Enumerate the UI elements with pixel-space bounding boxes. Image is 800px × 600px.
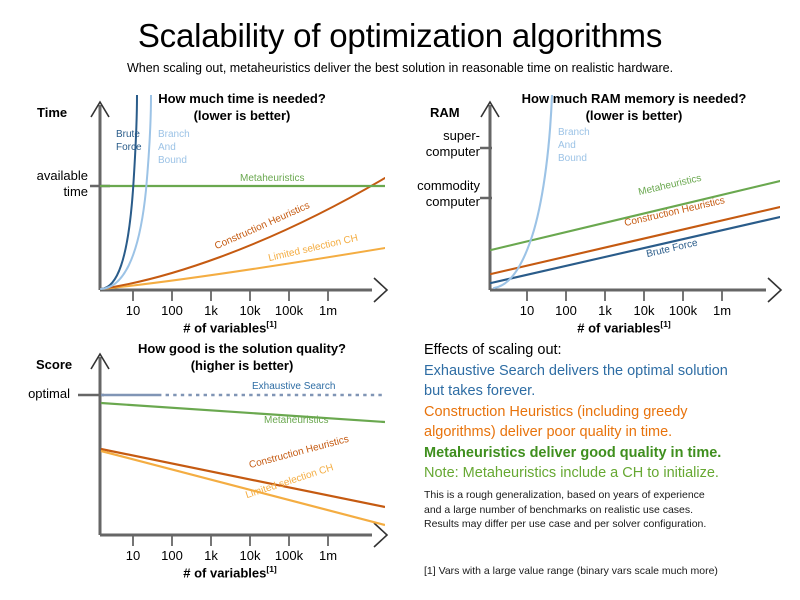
chart-score-series-metaheuristics [101,403,385,422]
chart-time-xtick-4: 100k [269,303,309,318]
chart-score-xtick-4: 100k [269,548,309,563]
chart-score-xtick-1: 100 [152,548,192,563]
chart-score-axes [78,354,387,547]
notes-footnote-line: [1] Vars with a large value range (binar… [424,564,800,579]
chart-time-series-branch-and-bound [101,95,151,289]
chart-score-xtick-5: 1m [308,548,348,563]
page-subtitle: When scaling out, metaheuristics deliver… [0,56,800,76]
chart-time-label-branch-and-bound: Branch And Bound [158,128,190,167]
chart-time-label-metaheuristics: Metaheuristics [240,172,304,185]
chart-ram-label-branch-and-bound: Branch And Bound [558,126,590,165]
notes-disclaimer-line-1: This is a rough generalization, based on… [424,488,800,503]
chart-time-x-axis-title: # of variables[1] [130,319,330,335]
chart-score-xtick-0: 10 [113,548,153,563]
chart-ram-xtick-5: 1m [702,303,742,318]
chart-score-label-metaheuristics: Metaheuristics [264,414,328,427]
notes-green-bold-line: Metaheuristics deliver good quality in t… [424,443,800,464]
chart-time-plot [12,90,412,335]
chart-time-xtick-5: 1m [308,303,348,318]
notes-footnote-block: [1] Vars with a large value range (binar… [424,564,800,579]
chart-time-label-brute-force: Brute Force [116,128,142,154]
chart-score-series-limited-selection-ch [101,451,385,525]
notes-green-note-line: Note: Metaheuristics include a CH to ini… [424,463,800,484]
page-title: Scalability of optimization algorithms [0,0,800,56]
chart-ram-xtick-1: 100 [546,303,586,318]
chart-score-xtick-2: 1k [191,548,231,563]
chart-ram-xtick-4: 100k [663,303,703,318]
notes-disclaimer-line-2: and a large number of benchmarks on real… [424,503,800,518]
chart-ram-axes [480,102,781,302]
chart-time-xtick-1: 100 [152,303,192,318]
notes-disclaimer: This is a rough generalization, based on… [424,488,800,532]
chart-ram-xtick-0: 10 [507,303,547,318]
notes-disclaimer-line-3: Results may differ per use case and per … [424,517,800,532]
notes-heading: Effects of scaling out: [424,340,800,361]
chart-score-label-exhaustive-search: Exhaustive Search [252,380,335,393]
chart-time: How much time is needed? (lower is bette… [12,90,412,335]
notes-orange-line-2: algorithms) deliver poor quality in time… [424,422,800,443]
chart-time-xtick-0: 10 [113,303,153,318]
notes-panel: Effects of scaling out: Exhaustive Searc… [424,340,800,590]
chart-score-x-axis-title: # of variables[1] [130,564,330,580]
chart-score-series-construction-heuristics [101,449,385,507]
notes-summary: Effects of scaling out: Exhaustive Searc… [424,340,800,484]
chart-time-xtick-3: 10k [230,303,270,318]
header: Scalability of optimization algorithms W… [0,0,800,76]
chart-ram-plot [412,90,800,335]
notes-blue-line-2: but takes forever. [424,381,800,402]
chart-ram-series-branch-and-bound [494,95,552,288]
chart-ram-x-axis-title: # of variables[1] [524,319,724,335]
chart-ram-xtick-2: 1k [585,303,625,318]
chart-time-xtick-2: 1k [191,303,231,318]
chart-ram-xtick-3: 10k [624,303,664,318]
chart-score: How good is the solution quality? (highe… [12,335,412,590]
notes-blue-line-1: Exhaustive Search delivers the optimal s… [424,361,800,382]
chart-ram: How much RAM memory is needed? (lower is… [412,90,800,335]
chart-time-series-limited-selection-ch [101,248,385,289]
chart-score-xtick-3: 10k [230,548,270,563]
notes-orange-line-1: Construction Heuristics (including greed… [424,402,800,423]
